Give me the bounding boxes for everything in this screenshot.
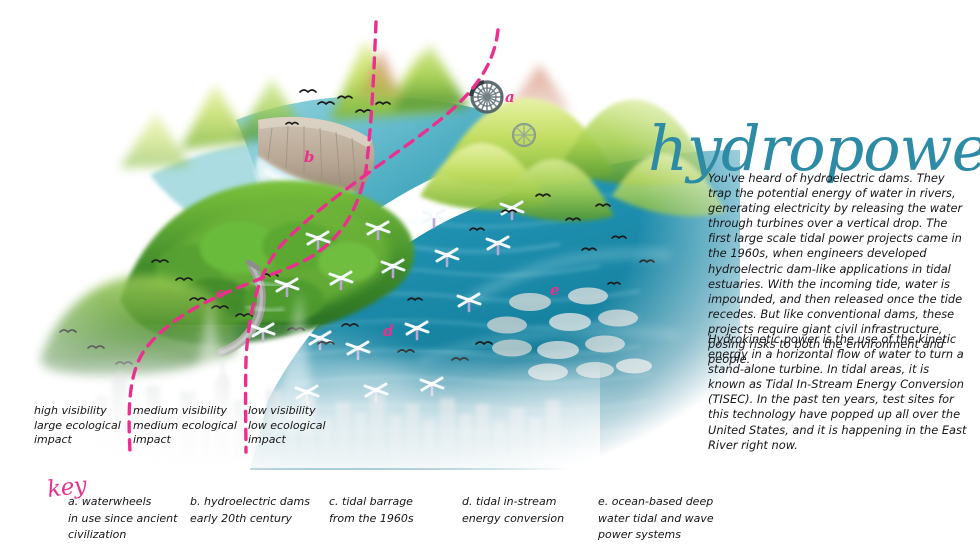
marker-b: b — [304, 148, 315, 166]
marker-c: c — [216, 284, 225, 302]
marker-a: a — [505, 88, 515, 106]
zone-label-medium-visibility: medium visibility medium ecological impa… — [133, 404, 237, 448]
marker-e: e — [550, 281, 560, 299]
key-item-a: a. waterwheels in use since ancient civi… — [68, 494, 177, 544]
key-item-e: e. ocean-based deep water tidal and wave… — [598, 494, 714, 544]
key-item-c: c. tidal barrage from the 1960s — [329, 494, 414, 527]
key-item-b: b. hydroelectric dams early 20th century — [190, 494, 310, 527]
hydrokinetic-paragraph: Hydrokinetic power is the use of the kin… — [708, 332, 970, 453]
hydropower-illustration: a b c d e — [0, 0, 740, 470]
zone-label-high-visibility: high visibility large ecological impact — [34, 404, 121, 448]
zone-label-low-visibility: low visibility low ecological impact — [248, 404, 326, 448]
infographic-canvas: a b c d e hydropower You've heard of hyd… — [0, 0, 980, 560]
marker-d: d — [383, 322, 394, 340]
key-item-d: d. tidal in-stream energy conversion — [462, 494, 564, 527]
